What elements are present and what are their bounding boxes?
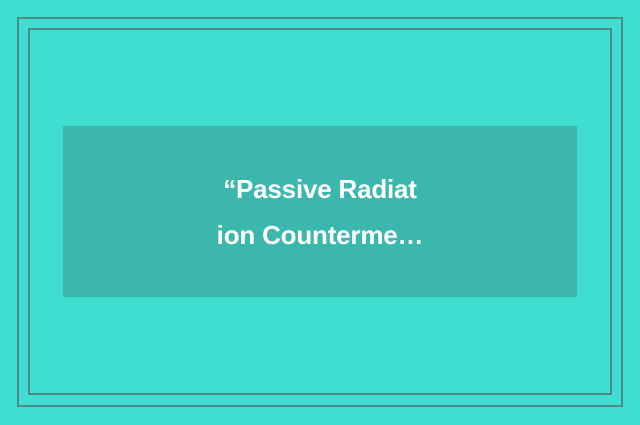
quote-line-1: “Passive Radiat [63,166,577,212]
quote-panel: “Passive Radiat ion Counterme… [63,126,577,297]
quote-line-2: ion Counterme… [63,212,577,258]
quote-card: “Passive Radiat ion Counterme… [0,0,640,425]
